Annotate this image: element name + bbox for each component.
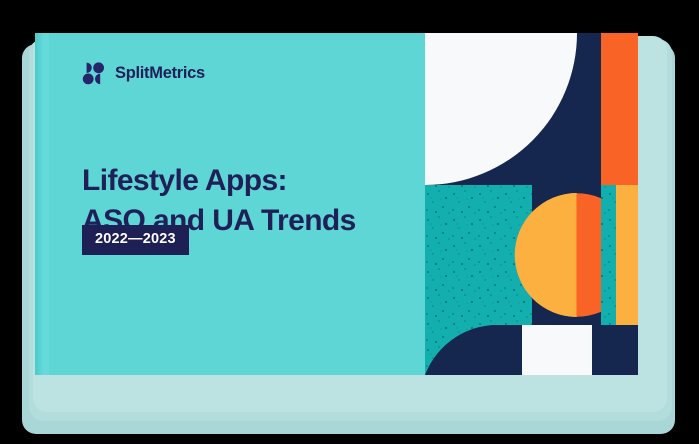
brand-lockup: SplitMetrics bbox=[82, 62, 205, 85]
year-range-label: 2022—2023 bbox=[95, 232, 176, 247]
ebook-cover[interactable]: SplitMetrics Lifestyle Apps: ASO and UA … bbox=[35, 33, 638, 375]
year-range-badge: 2022—2023 bbox=[82, 225, 189, 255]
title-line-1: Lifestyle Apps: bbox=[82, 164, 287, 197]
brand-name: SplitMetrics bbox=[115, 65, 205, 82]
geometric-cover-artwork bbox=[425, 33, 638, 375]
cover-spine-inner bbox=[43, 33, 49, 375]
splitmetrics-dots-logo-icon bbox=[82, 62, 106, 85]
cover-spine bbox=[35, 33, 43, 375]
screenshot-canvas: SplitMetrics Lifestyle Apps: ASO and UA … bbox=[0, 0, 699, 444]
